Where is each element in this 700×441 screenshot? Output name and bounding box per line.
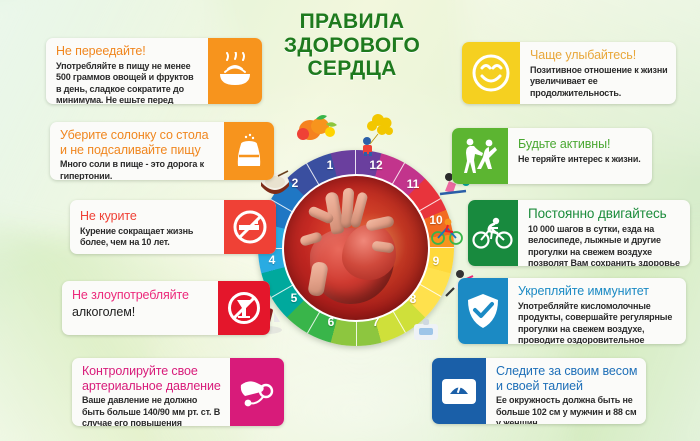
- bathroom-scale-icon: [432, 358, 486, 424]
- card-body: Употребляйте в пищу не менее 500 граммов…: [56, 61, 200, 105]
- card-strengthen-immunity[interactable]: Укрепляйте иммунитет Употребляйте кислом…: [458, 278, 686, 344]
- card-text: Не переедайте! Употребляйте в пищу не ме…: [46, 38, 208, 104]
- card-heading: Не курите: [80, 209, 216, 224]
- wheel-number: 9: [433, 254, 440, 268]
- card-do-not-overeat[interactable]: Не переедайте! Употребляйте в пищу не ме…: [46, 38, 262, 104]
- card-heading: Контролируйте свое артериальное давление: [82, 364, 222, 393]
- card-body: Курение сокращает жизнь более, чем на 10…: [80, 226, 216, 249]
- blood-pressure-cuff-icon: [230, 358, 284, 426]
- card-text: Уберите солонку со стола и не подсаливай…: [50, 122, 224, 180]
- card-text: Не злоупотребляйте алкоголем!: [62, 281, 218, 335]
- fruit-and-vegetables-icon: [296, 108, 340, 144]
- card-body: Много соли в пище - это дорога к гиперто…: [60, 159, 216, 180]
- heart-rules-wheel: 1 2 3 4 5 6 7 8 9 10 11 12: [258, 150, 454, 346]
- card-body: 10 000 шагов в сутки, езда на велосипеде…: [528, 224, 682, 266]
- card-heading: Постоянно двигайтесь: [528, 206, 682, 222]
- wheel-number: 10: [429, 213, 442, 227]
- card-blood-pressure[interactable]: Контролируйте свое артериальное давление…: [72, 358, 284, 426]
- card-heading: Не злоупотребляйте: [72, 288, 210, 303]
- card-watch-weight[interactable]: Следите за своим весом и своей талией Ее…: [432, 358, 646, 424]
- card-smile-more[interactable]: Чаще улыбайтесь! Позитивное отношение к …: [462, 42, 676, 104]
- card-text: Будьте активны! Не теряйте интерес к жиз…: [508, 128, 652, 184]
- card-body: Ваше давление не должно быть больше 140/…: [82, 395, 222, 426]
- card-text: Следите за своим весом и своей талией Ее…: [486, 358, 646, 424]
- card-no-alcohol-abuse[interactable]: Не злоупотребляйте алкоголем!: [62, 281, 270, 335]
- no-alcohol-icon: [218, 281, 270, 335]
- title-line-1: ПРАВИЛА: [248, 10, 456, 34]
- cyclist-icon: [468, 200, 518, 266]
- title-line-2: ЗДОРОВОГО: [248, 34, 456, 58]
- card-text: Не курите Курение сокращает жизнь более,…: [70, 200, 224, 254]
- card-text: Постоянно двигайтесь 10 000 шагов в сутк…: [518, 200, 690, 266]
- bowl-of-food-icon: [208, 38, 262, 104]
- card-body: Ее окружность должна быть не больше 102 …: [496, 395, 638, 424]
- card-heading: Укрепляйте иммунитет: [518, 284, 678, 299]
- salt-shaker-icon: [224, 122, 274, 180]
- card-remove-salt[interactable]: Уберите солонку со стола и не подсаливай…: [50, 122, 274, 180]
- card-heading: Не переедайте!: [56, 44, 200, 59]
- wheel-number: 4: [269, 253, 276, 267]
- card-text: Укрепляйте иммунитет Употребляйте кислом…: [508, 278, 686, 344]
- smiley-face-icon: [462, 42, 520, 104]
- card-text: Контролируйте свое артериальное давление…: [72, 358, 230, 426]
- card-heading: Уберите солонку со стола и не подсаливай…: [60, 128, 216, 157]
- card-keep-moving[interactable]: Постоянно двигайтесь 10 000 шагов в сутк…: [468, 200, 690, 266]
- heart-illustration: [282, 174, 430, 322]
- card-body: Употребляйте кисломолочные продукты, сов…: [518, 301, 678, 345]
- card-heading: Чаще улыбайтесь!: [530, 48, 668, 63]
- card-be-active[interactable]: Будьте активны! Не теряйте интерес к жиз…: [452, 128, 652, 184]
- card-do-not-smoke[interactable]: Не курите Курение сокращает жизнь более,…: [70, 200, 276, 254]
- card-text: Чаще улыбайтесь! Позитивное отношение к …: [520, 42, 676, 104]
- card-heading-line-2: алкоголем!: [72, 305, 210, 320]
- card-body: Не теряйте интерес к жизни.: [518, 154, 644, 166]
- card-body: Позитивное отношение к жизни увеличивает…: [530, 65, 668, 100]
- card-heading: Будьте активны!: [518, 137, 644, 152]
- wheel-number: 1: [327, 158, 334, 172]
- shield-check-icon: [458, 278, 508, 344]
- card-heading: Следите за своим весом и своей талией: [496, 364, 638, 393]
- wheel-number: 12: [369, 158, 382, 172]
- dancing-couple-icon: [452, 128, 508, 184]
- title-line-3: СЕРДЦА: [248, 57, 456, 81]
- page-title: ПРАВИЛА ЗДОРОВОГО СЕРДЦА: [248, 10, 456, 81]
- no-smoking-icon: [224, 200, 276, 254]
- infographic-poster: ПРАВИЛА ЗДОРОВОГО СЕРДЦА 1 2 3 4 5 6: [0, 0, 700, 441]
